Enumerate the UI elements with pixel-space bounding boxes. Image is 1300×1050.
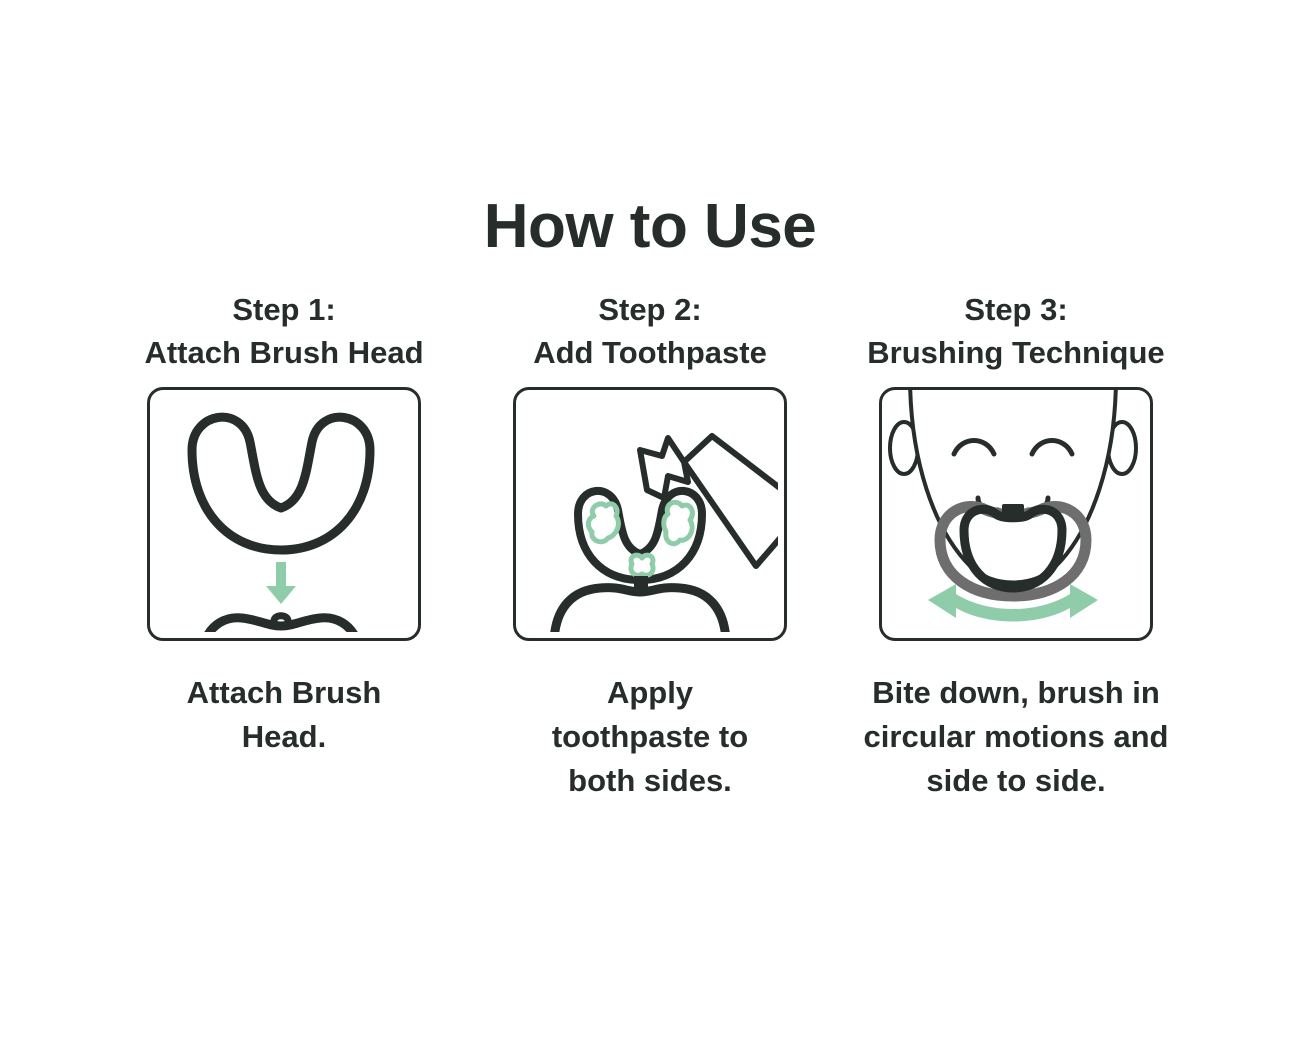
add-toothpaste-diagram <box>516 390 778 632</box>
step-1-illustration-panel <box>147 387 421 641</box>
down-arrow-icon <box>266 562 296 604</box>
step-3-caption: Bite down, brush in circular motions and… <box>846 671 1186 803</box>
step-2-caption: Apply toothpaste to both sides. <box>524 671 776 803</box>
brushing-technique-diagram <box>882 390 1144 632</box>
step-2-heading: Step 2: Add Toothpaste <box>533 288 767 375</box>
brush-head-attach-diagram <box>150 390 412 632</box>
steps-row: Step 1: Attach Brush Head <box>110 288 1190 803</box>
infographic-page: How to Use Step 1: Attach Brush Head <box>0 0 1300 1050</box>
toothpaste-tube-icon <box>640 436 778 566</box>
toothpaste-blob-icon <box>588 502 692 575</box>
page-title: How to Use <box>0 194 1300 259</box>
step-card-3: Step 3: Brushing Technique <box>842 288 1190 803</box>
step-1-caption: Attach Brush Head. <box>158 671 410 759</box>
step-1-heading: Step 1: Attach Brush Head <box>144 288 423 375</box>
step-card-1: Step 1: Attach Brush Head <box>110 288 458 759</box>
brush-head-icon <box>192 417 370 550</box>
step-2-illustration-panel <box>513 387 787 641</box>
handle-icon <box>206 616 356 632</box>
step-card-2: Step 2: Add Toothpaste <box>476 288 824 803</box>
handle-icon <box>554 576 726 632</box>
step-3-illustration-panel <box>879 387 1153 641</box>
step-3-heading: Step 3: Brushing Technique <box>867 288 1164 375</box>
